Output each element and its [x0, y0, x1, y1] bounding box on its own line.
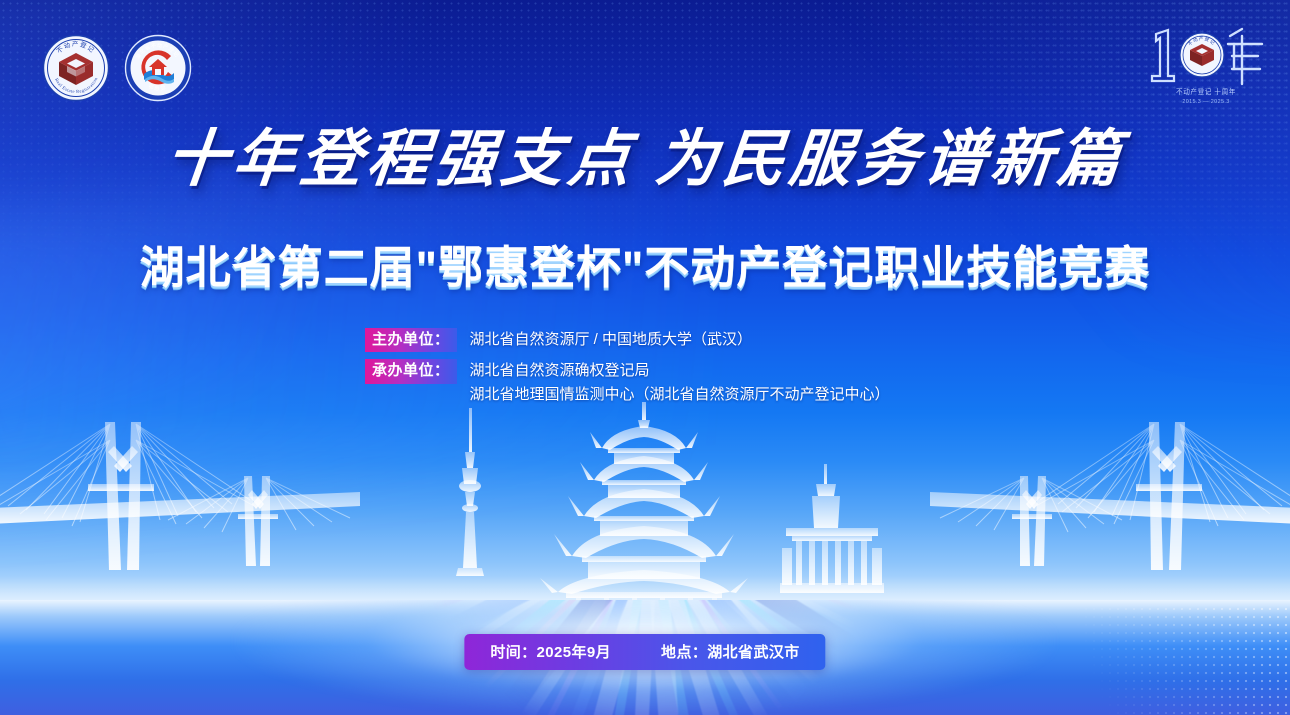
organizing-unit-line: 湖北省自然资源确权登记局 [470, 359, 890, 382]
organizer-row: 主办单位： 湖北省自然资源厅 / 中国地质大学（武汉） [365, 328, 925, 352]
ten-year-anniversary-emblem: 不动产登记 不动产登记 十周年 2015.3 — 2025.3 [1146, 24, 1266, 108]
classical-building [780, 464, 884, 593]
bridge-right-structure [930, 422, 1290, 570]
year-glyph [1228, 29, 1262, 84]
host-unit-badge: 主办单位： [365, 328, 457, 352]
subtitle-text: 湖北省第二届"鄂惠登杯"不动产登记职业技能竞赛 [140, 243, 1151, 293]
bridge-left-structure [0, 422, 360, 570]
digit-zero-seal: 不动产登记 [1180, 33, 1224, 77]
poster-canvas: 不动产登记 Real Estate Registration [0, 0, 1290, 715]
host-unit-line: 湖北省自然资源厅 / 中国地质大学（武汉） [470, 328, 753, 351]
organizing-unit-value: 湖北省自然资源确权登记局 湖北省地理国情监测中心（湖北省自然资源厅不动产登记中心… [470, 359, 890, 406]
tv-tower [456, 408, 484, 576]
emblem-date-range: 2015.3 — 2025.3 [1182, 99, 1229, 105]
logo-group: 不动产登记 Real Estate Registration [42, 34, 192, 102]
organizing-unit-line: 湖北省地理国情监测中心（湖北省自然资源厅不动产登记中心） [470, 383, 890, 406]
event-info-bar: 时间：2025年9月 地点：湖北省武汉市 [464, 634, 825, 670]
ground-dot-texture [1010, 605, 1290, 715]
organizer-row: 承办单位： 湖北省自然资源确权登记局 湖北省地理国情监测中心（湖北省自然资源厅不… [365, 359, 925, 406]
subtitle: 湖北省第二届"鄂惠登杯"不动产登记职业技能竞赛 [0, 243, 1290, 293]
ehuideng-service-logo: 湖北省不动产登记 鄂惠登 [124, 34, 192, 102]
organizing-unit-badge: 承办单位： [365, 359, 457, 383]
headline: 十年登程强支点 为民服务谱新篇 [0, 128, 1290, 193]
emblem-caption: 不动产登记 十周年 [1176, 87, 1236, 96]
event-time: 时间：2025年9月 [490, 641, 611, 662]
host-unit-value: 湖北省自然资源厅 / 中国地质大学（武汉） [470, 328, 753, 351]
organizer-block: 主办单位： 湖北省自然资源厅 / 中国地质大学（武汉） 承办单位： 湖北省自然资… [0, 328, 1290, 413]
headline-text: 十年登程强支点 为民服务谱新篇 [162, 128, 1127, 193]
digit-one [1152, 30, 1174, 81]
event-place: 地点：湖北省武汉市 [661, 641, 800, 662]
real-estate-registration-logo: 不动产登记 Real Estate Registration [42, 34, 110, 102]
wuhan-skyline [0, 380, 1290, 630]
